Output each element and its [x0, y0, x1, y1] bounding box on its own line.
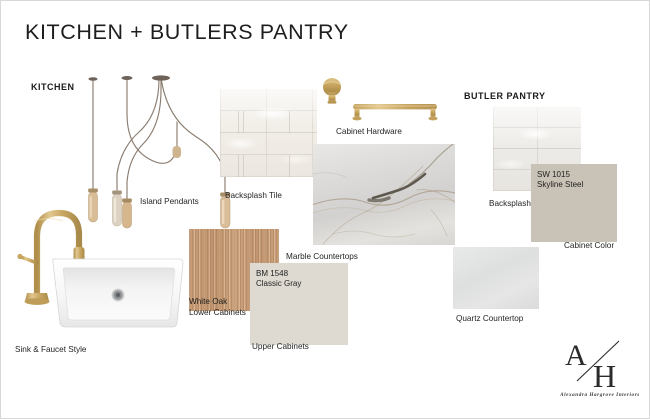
- svg-text:A: A: [565, 339, 587, 372]
- swatch-quartz-countertop: [453, 247, 539, 309]
- ah-monogram-icon: A H: [561, 335, 639, 391]
- brand-logo: A H Alexandra Hargrove Interiors: [557, 335, 643, 407]
- caption-white-oak: White Oak Lower Cabinets: [189, 297, 246, 318]
- swatch-marble-countertop: [313, 144, 455, 245]
- cabinet-hardware-image: [317, 75, 449, 125]
- section-heading-kitchen: KITCHEN: [31, 82, 75, 92]
- sink-faucet-image: [9, 197, 187, 335]
- paint-name-skyline-steel: Skyline Steel: [537, 180, 583, 191]
- caption-cabinet-hardware: Cabinet Hardware: [336, 127, 402, 138]
- paint-name-classic-gray: Classic Gray: [256, 279, 301, 290]
- mood-board-canvas: KITCHEN + BUTLERS PANTRY KITCHEN BUTLER …: [0, 0, 650, 419]
- caption-backsplash-tile: Backsplash Tile: [225, 191, 282, 202]
- marble-veining: [313, 144, 455, 245]
- paint-code-skyline-steel: SW 1015: [537, 170, 570, 181]
- caption-sink-faucet: Sink & Faucet Style: [15, 345, 86, 356]
- paint-code-classic-gray: BM 1548: [256, 269, 288, 280]
- swatch-upper-cabinets-paint: BM 1548 Classic Gray: [250, 263, 348, 345]
- brand-name: Alexandra Hargrove Interiors: [557, 392, 643, 398]
- caption-cabinet-color: Cabinet Color: [564, 241, 614, 252]
- section-heading-butler-pantry: BUTLER PANTRY: [464, 91, 546, 101]
- caption-upper-cabinets: Upper Cabinets: [252, 342, 309, 353]
- caption-quartz-countertop: Quartz Countertop: [456, 314, 523, 325]
- caption-marble-countertops: Marble Countertops: [286, 252, 358, 263]
- page-title: KITCHEN + BUTLERS PANTRY: [25, 20, 349, 45]
- tile-gloss-overlay: [220, 89, 317, 177]
- swatch-kitchen-backsplash-tile: [220, 89, 317, 177]
- caption-pantry-backsplash: Backsplash: [489, 199, 531, 210]
- swatch-pantry-cabinet-paint: SW 1015 Skyline Steel: [531, 164, 617, 242]
